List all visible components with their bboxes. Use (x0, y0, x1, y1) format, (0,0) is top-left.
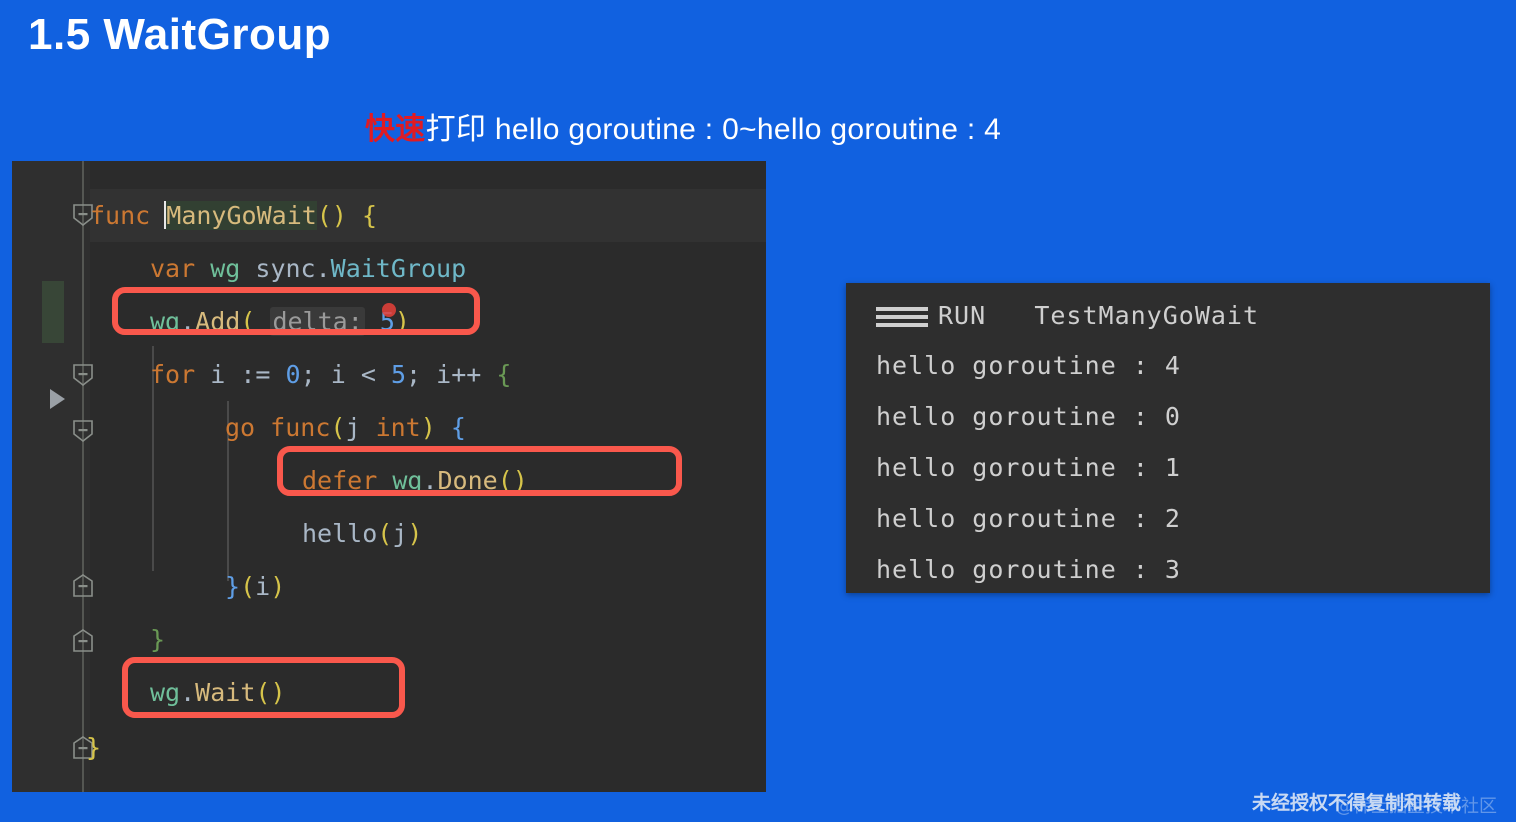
terminal-output-line: hello goroutine : 3 (876, 555, 1181, 584)
package-name: sync. (255, 254, 330, 283)
close-func-brace: } (86, 733, 101, 762)
code-editor-panel[interactable]: func ManyGoWait() { var wg sync.WaitGrou… (12, 161, 766, 792)
editor-gutter[interactable] (12, 161, 90, 792)
page-title: 1.5 WaitGroup (28, 10, 331, 60)
brand-watermark: @稀土掘金技术社区 (1335, 792, 1497, 818)
code-line-1: func ManyGoWait() { (90, 189, 377, 242)
code-line-8: }(i) (225, 560, 285, 613)
run-output-panel[interactable]: RUN TestManyGoWait hello goroutine : 4 h… (846, 283, 1490, 593)
keyword-var: var (150, 254, 195, 283)
slide-root: 1.5 WaitGroup 快速打印 hello goroutine : 0~h… (0, 0, 1516, 822)
keyword-func: func (90, 201, 150, 230)
code-line-10: wg.Wait() (150, 666, 286, 719)
keyword-go: go (225, 413, 255, 442)
terminal-output-line: hello goroutine : 2 (876, 504, 1181, 533)
subtitle-rest: 打印 hello goroutine : 0~hello goroutine :… (426, 113, 1001, 146)
function-name: ManyGoWait (166, 201, 317, 230)
close-for-brace: } (150, 625, 165, 654)
subtitle: 快速打印 hello goroutine : 0~hello goroutine… (365, 104, 1001, 148)
var-name: wg (210, 254, 240, 283)
terminal-header: RUN TestManyGoWait (876, 301, 1259, 330)
code-line-9: } (150, 613, 165, 666)
var-name: wg (150, 307, 180, 336)
code-line-7: hello(j) (302, 507, 422, 560)
equals-prefix-icon (876, 307, 928, 326)
keyword-defer: defer (302, 466, 377, 495)
code-content[interactable]: func ManyGoWait() { var wg sync.WaitGrou… (90, 161, 766, 792)
code-line-3: wg.Add( delta: 5) (150, 295, 410, 348)
subtitle-accent: 快速 (365, 113, 426, 146)
keyword-for: for (150, 360, 195, 389)
code-line-2: var wg sync.WaitGroup (150, 242, 466, 295)
code-line-6: defer wg.Done() (302, 454, 528, 507)
terminal-output-line: hello goroutine : 4 (876, 351, 1181, 380)
run-label: RUN (938, 301, 986, 330)
code-line-11: } (86, 721, 101, 774)
parameter-hint: delta: (270, 307, 364, 336)
code-line-5: go func(j int) { (225, 401, 466, 454)
type-name: WaitGroup (331, 254, 466, 283)
run-gutter-icon[interactable] (50, 389, 65, 409)
terminal-output-line: hello goroutine : 1 (876, 453, 1181, 482)
gutter-separator (82, 161, 84, 792)
add-delta-value: 5 (380, 295, 395, 348)
vcs-change-bar (42, 281, 64, 343)
test-name: TestManyGoWait (1034, 301, 1259, 330)
code-line-4: for i := 0; i < 5; i++ { (150, 348, 511, 401)
terminal-output-line: hello goroutine : 0 (876, 402, 1181, 431)
